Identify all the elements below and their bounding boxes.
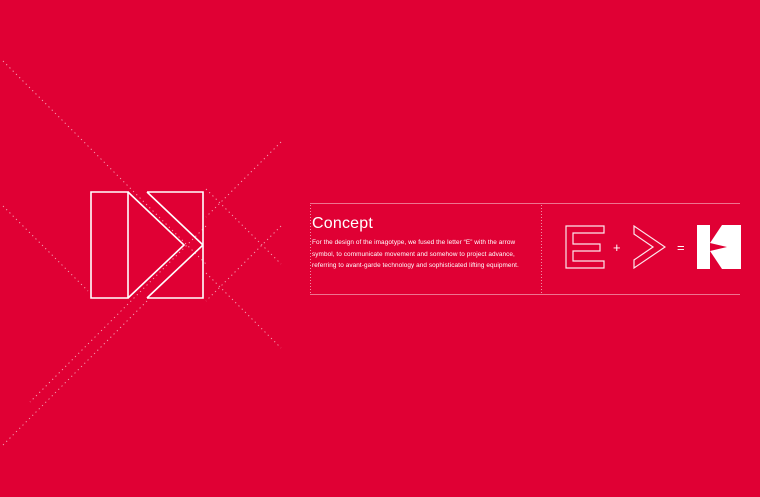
guide-line-4	[3, 301, 147, 445]
construction-left-bar	[91, 192, 128, 298]
guide-line-7	[206, 273, 281, 348]
concept-body-line: referring to avant-garde technology and …	[312, 260, 534, 272]
panel-top-rule	[310, 203, 740, 204]
concept-panel: Concept For the design of the imagotype,…	[310, 203, 740, 295]
letter-e-icon	[565, 225, 605, 269]
logo-construction-outline	[88, 189, 206, 301]
page-title: Concept	[312, 215, 534, 233]
construction-chevron	[128, 192, 184, 298]
guide-line-2	[3, 206, 88, 291]
operator-plus: +	[613, 241, 621, 254]
logo-formula: + =	[551, 215, 739, 279]
concept-body-line: symbol, to communicate movement and some…	[312, 249, 534, 261]
concept-text-block: Concept For the design of the imagotype,…	[312, 215, 534, 272]
arrow-chevron-icon	[632, 225, 666, 269]
panel-middle-dotted-divider	[541, 205, 542, 294]
brand-concept-slide: Concept For the design of the imagotype,…	[0, 0, 760, 497]
panel-bottom-rule	[310, 294, 740, 295]
operator-equals: =	[677, 241, 685, 254]
guide-line-6	[206, 142, 281, 217]
logo-mark-icon	[697, 225, 741, 269]
panel-left-dotted-divider	[310, 205, 311, 294]
guide-line-5	[206, 189, 281, 264]
concept-body-line: For the design of the imagotype, we fuse…	[312, 237, 534, 249]
guide-line-8	[206, 226, 281, 301]
